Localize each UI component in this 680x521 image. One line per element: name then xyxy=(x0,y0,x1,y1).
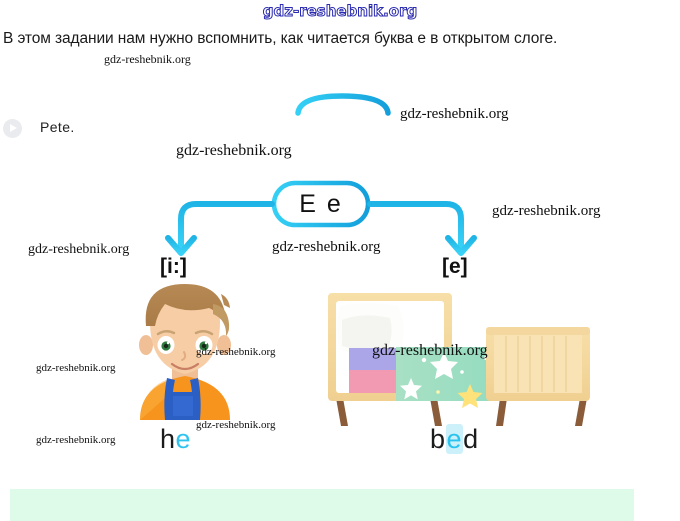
watermark-text: gdz-reshebnik.org xyxy=(176,142,292,160)
watermark-text: gdz-reshebnik.org xyxy=(28,242,129,258)
watermark-text: gdz-reshebnik.org xyxy=(272,239,380,256)
bottom-green-band xyxy=(10,489,634,521)
watermark-text: gdz-reshebnik.org xyxy=(372,342,488,360)
page-canvas: gdz-reshebnik.org В этом задании нам нуж… xyxy=(0,0,680,521)
word-bed: bed xyxy=(430,424,479,455)
watermark-text: gdz-reshebnik.org xyxy=(400,106,508,123)
word-bed-prefix: b xyxy=(430,424,446,454)
word-bed-suffix: d xyxy=(463,424,479,454)
watermark-text: gdz-reshebnik.org xyxy=(36,434,116,446)
branch-arrow-right xyxy=(370,204,474,253)
branch-arrow-left xyxy=(168,204,272,253)
watermark-text: gdz-reshebnik.org xyxy=(36,362,116,374)
watermark-text: gdz-reshebnik.org xyxy=(104,52,191,67)
top-arc-decoration xyxy=(298,96,388,113)
center-letter-label: E e xyxy=(274,183,368,225)
word-bed-highlight: e xyxy=(446,424,464,454)
word-he-highlight: e xyxy=(176,424,192,454)
watermark-text: gdz-reshebnik.org xyxy=(492,203,600,220)
word-he: he xyxy=(160,424,191,455)
phonetic-left: [i:] xyxy=(160,255,187,279)
watermark-text: gdz-reshebnik.org xyxy=(196,346,276,358)
phonetic-right: [e] xyxy=(442,255,468,279)
word-he-prefix: h xyxy=(160,424,176,454)
watermark-text: gdz-reshebnik.org xyxy=(196,419,276,431)
